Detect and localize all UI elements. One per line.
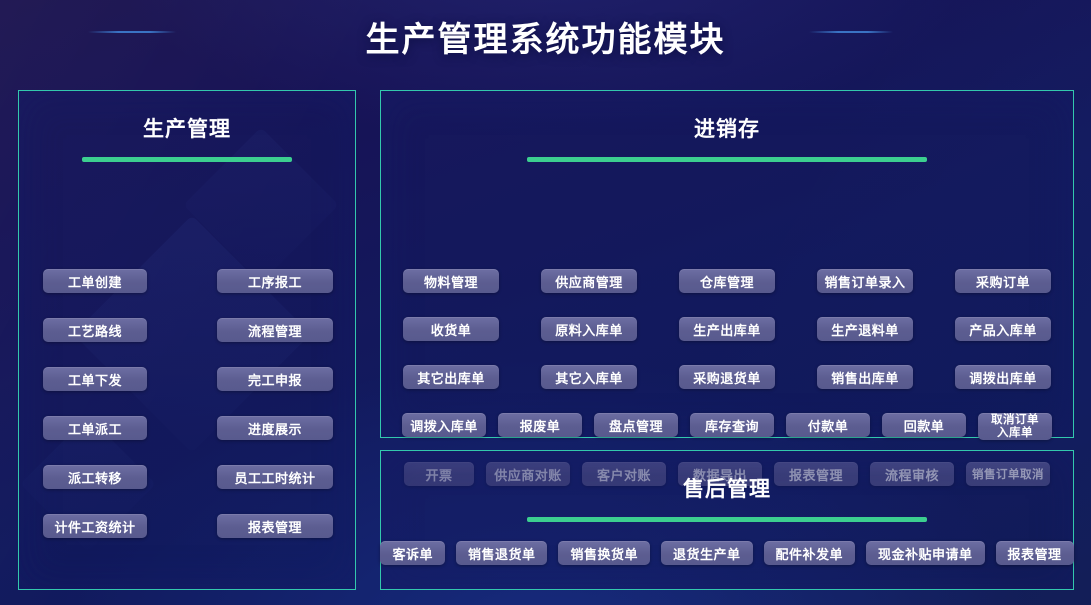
- aftersales-button-row: 客诉单 销售退货单 销售换货单 退货生产单 配件补发单 现金补贴申请单 报表管理: [381, 541, 1073, 565]
- title-underline: [527, 157, 927, 162]
- button-transfer-outbound[interactable]: 调拨出库单: [955, 365, 1051, 389]
- button-flow-management[interactable]: 流程管理: [217, 318, 333, 342]
- cancel-order-inbound-line1: 取消订单: [991, 414, 1039, 426]
- page-canvas: 生产管理系统功能模块 生产管理 工单创建 工序报工 工艺路线 流程管理 工单下发…: [0, 0, 1091, 605]
- button-collection-note[interactable]: 回款单: [882, 413, 966, 437]
- panel-title-aftersales: 售后管理: [381, 473, 1073, 503]
- button-cancel-order-inbound[interactable]: 取消订单 入库单: [978, 413, 1052, 440]
- button-return-production[interactable]: 退货生产单: [661, 541, 753, 565]
- button-scrap-note[interactable]: 报废单: [498, 413, 582, 437]
- button-transfer-inbound[interactable]: 调拨入库单: [402, 413, 486, 437]
- button-sales-exchange[interactable]: 销售换货单: [558, 541, 650, 565]
- inventory-row-3: 其它出库单 其它入库单 采购退货单 销售出库单 调拨出库单: [381, 365, 1073, 389]
- button-payment-note[interactable]: 付款单: [786, 413, 870, 437]
- button-warehouse-management[interactable]: 仓库管理: [679, 269, 775, 293]
- page-title: 生产管理系统功能模块: [0, 12, 1091, 61]
- inventory-row-4: 调拨入库单 报废单 盘点管理 库存查询 付款单 回款单 取消订单 入库单: [381, 413, 1073, 440]
- button-supplier-management[interactable]: 供应商管理: [541, 269, 637, 293]
- button-purchase-order[interactable]: 采购订单: [955, 269, 1051, 293]
- production-button-grid: 工单创建 工序报工 工艺路线 流程管理 工单下发 完工申报 工单派工 进度展示 …: [43, 269, 333, 538]
- panel-title-inventory: 进销存: [381, 113, 1073, 143]
- button-sales-outbound[interactable]: 销售出库单: [817, 365, 913, 389]
- inventory-row-2: 收货单 原料入库单 生产出库单 生产退料单 产品入库单: [381, 317, 1073, 341]
- title-underline: [527, 517, 927, 522]
- button-purchase-return[interactable]: 采购退货单: [679, 365, 775, 389]
- button-dispatch-transfer[interactable]: 派工转移: [43, 465, 147, 489]
- button-report-management[interactable]: 报表管理: [996, 541, 1074, 565]
- inventory-row-1: 物料管理 供应商管理 仓库管理 销售订单录入 采购订单: [381, 269, 1073, 293]
- button-progress-display[interactable]: 进度展示: [217, 416, 333, 440]
- button-customer-complaint[interactable]: 客诉单: [380, 541, 445, 565]
- button-completion-report[interactable]: 完工申报: [217, 367, 333, 391]
- button-stocktaking-management[interactable]: 盘点管理: [594, 413, 678, 437]
- button-cash-subsidy-application[interactable]: 现金补贴申请单: [866, 541, 985, 565]
- button-parts-replenishment[interactable]: 配件补发单: [764, 541, 856, 565]
- panel-aftersales-management: 售后管理 客诉单 销售退货单 销售换货单 退货生产单 配件补发单 现金补贴申请单…: [380, 450, 1074, 590]
- title-underline: [82, 157, 292, 162]
- button-raw-material-inbound[interactable]: 原料入库单: [541, 317, 637, 341]
- button-product-inbound[interactable]: 产品入库单: [955, 317, 1051, 341]
- panel-production-management: 生产管理 工单创建 工序报工 工艺路线 流程管理 工单下发 完工申报 工单派工 …: [18, 90, 356, 590]
- button-work-order-issue[interactable]: 工单下发: [43, 367, 147, 391]
- button-receipt-note[interactable]: 收货单: [403, 317, 499, 341]
- button-report-management[interactable]: 报表管理: [217, 514, 333, 538]
- cancel-order-inbound-line2: 入库单: [997, 427, 1033, 439]
- button-process-report[interactable]: 工序报工: [217, 269, 333, 293]
- button-production-return[interactable]: 生产退料单: [817, 317, 913, 341]
- button-stock-query[interactable]: 库存查询: [690, 413, 774, 437]
- button-process-route[interactable]: 工艺路线: [43, 318, 147, 342]
- button-sales-return[interactable]: 销售退货单: [456, 541, 548, 565]
- panel-title-production: 生产管理: [19, 113, 355, 143]
- button-other-outbound[interactable]: 其它出库单: [403, 365, 499, 389]
- button-other-inbound[interactable]: 其它入库单: [541, 365, 637, 389]
- panel-inventory-management: 进销存 物料管理 供应商管理 仓库管理 销售订单录入 采购订单 收货单 原料入库…: [380, 90, 1074, 438]
- button-production-outbound[interactable]: 生产出库单: [679, 317, 775, 341]
- button-work-order-dispatch[interactable]: 工单派工: [43, 416, 147, 440]
- button-piece-wage-stat[interactable]: 计件工资统计: [43, 514, 147, 538]
- button-employee-hours-stat[interactable]: 员工工时统计: [217, 465, 333, 489]
- button-sales-order-entry[interactable]: 销售订单录入: [817, 269, 913, 293]
- button-work-order-create[interactable]: 工单创建: [43, 269, 147, 293]
- button-material-management[interactable]: 物料管理: [403, 269, 499, 293]
